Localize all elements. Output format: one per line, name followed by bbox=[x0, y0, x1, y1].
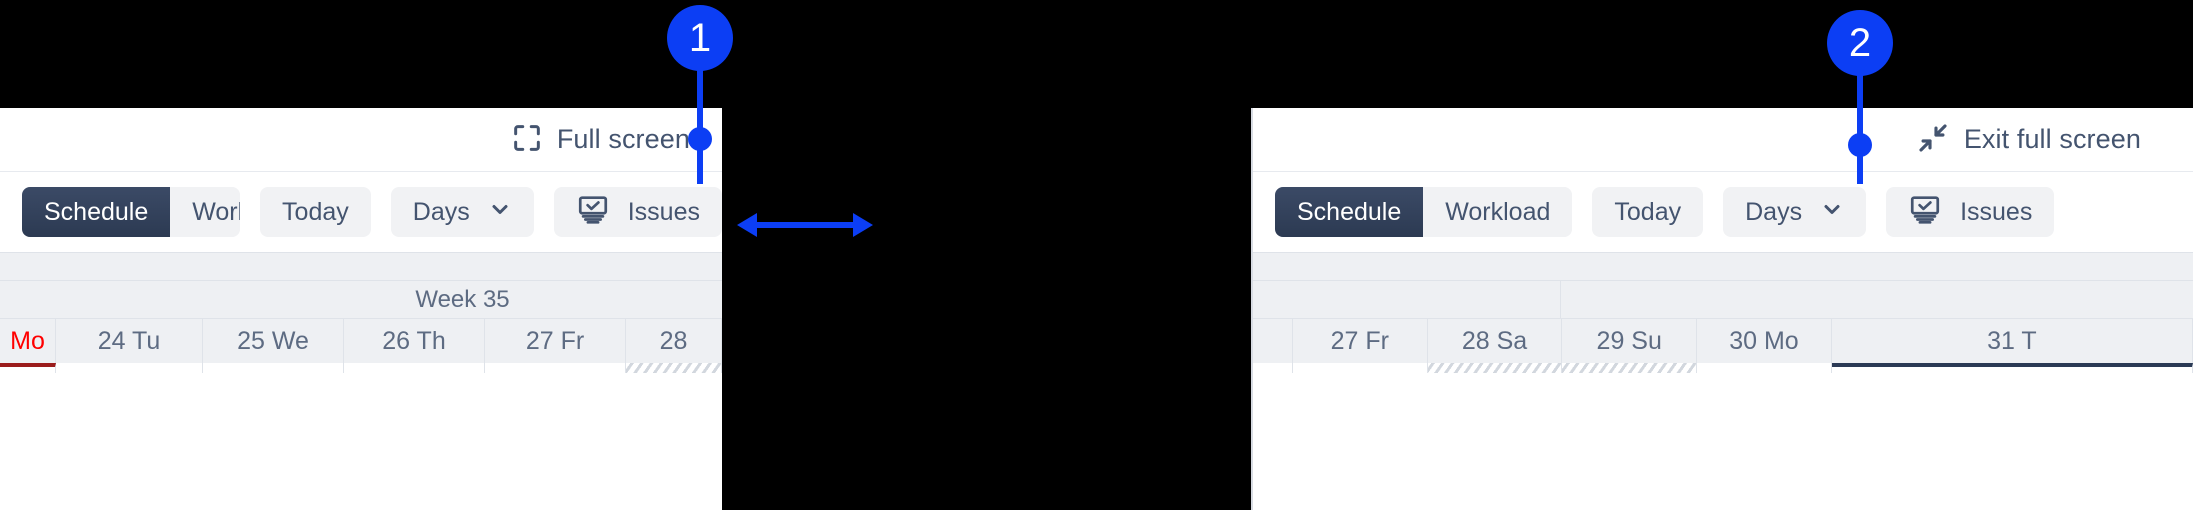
callout-1-stem bbox=[697, 68, 703, 184]
calendar-day-underline-row bbox=[0, 363, 722, 373]
exit-full-screen-button[interactable]: Exit full screen bbox=[1913, 116, 2143, 163]
calendar-day-underline bbox=[203, 363, 344, 373]
left-topbar: Full screen bbox=[0, 108, 722, 172]
issues-button[interactable]: Issues bbox=[554, 187, 722, 237]
calendar-day-underline bbox=[1562, 363, 1697, 373]
timescale-dropdown-right[interactable]: Days bbox=[1723, 187, 1866, 237]
calendar-day-cell: 25 We bbox=[203, 319, 344, 363]
calendar-day-underline bbox=[1697, 363, 1832, 373]
view-mode-segmented-control-right[interactable]: Schedule Workload bbox=[1275, 187, 1572, 237]
right-toolbar: Schedule Workload Today Days bbox=[1253, 172, 2193, 252]
timescale-label-right: Days bbox=[1745, 198, 1802, 227]
calendar-day-row: Mo24 Tu25 We26 Th27 Fr28 bbox=[0, 319, 722, 363]
chevron-down-icon-right bbox=[1820, 197, 1844, 228]
calendar-day-cell: 27 Fr bbox=[1293, 319, 1428, 363]
calendar-day-cell bbox=[1253, 319, 1293, 363]
calendar-day-cell: 26 Th bbox=[344, 319, 485, 363]
calendar-top-spacer bbox=[0, 253, 722, 281]
view-mode-segmented-control[interactable]: Schedule Workload bbox=[22, 187, 240, 237]
calendar-day-cell: 28 Sa bbox=[1428, 319, 1563, 363]
calendar-day-cell: 30 Mo bbox=[1697, 319, 1832, 363]
timescale-label: Days bbox=[413, 198, 470, 227]
callout-1-anchor-dot bbox=[688, 127, 712, 151]
calendar-day-underline bbox=[0, 363, 56, 373]
callout-2-badge: 2 bbox=[1827, 10, 1893, 76]
calendar-day-underline-row-right bbox=[1253, 363, 2193, 373]
exit-full-screen-label: Exit full screen bbox=[1964, 124, 2141, 155]
right-topbar: Exit full screen bbox=[1253, 108, 2193, 172]
calendar-day-cell: 24 Tu bbox=[56, 319, 203, 363]
today-button-right[interactable]: Today bbox=[1592, 187, 1703, 237]
expand-fullscreen-icon bbox=[510, 121, 544, 158]
collapse-exit-fullscreen-icon bbox=[1915, 120, 1951, 159]
calendar-week-empty bbox=[0, 281, 203, 318]
double-headed-arrow bbox=[735, 197, 875, 258]
issues-button-right[interactable]: Issues bbox=[1886, 187, 2054, 237]
calendar-week-label-right bbox=[1561, 281, 2193, 318]
panel-after-fullscreen: Exit full screen Schedule Workload Today… bbox=[1251, 108, 2193, 510]
tab-schedule-right[interactable]: Schedule bbox=[1275, 187, 1423, 237]
calendar-day-cell: 28 bbox=[626, 319, 722, 363]
tab-schedule[interactable]: Schedule bbox=[22, 187, 170, 237]
issues-label: Issues bbox=[628, 198, 700, 227]
calendar-week-row-right bbox=[1253, 281, 2193, 319]
calendar-day-cell: 27 Fr bbox=[485, 319, 626, 363]
calendar-week-row: Week 35 bbox=[0, 281, 722, 319]
callout-2-stem bbox=[1857, 74, 1863, 184]
tab-workload[interactable]: Workload bbox=[170, 187, 240, 237]
issues-monitor-check-icon bbox=[576, 192, 610, 233]
calendar-week-label: Week 35 bbox=[203, 281, 722, 318]
left-calendar-header: Week 35 Mo24 Tu25 We26 Th27 Fr28 bbox=[0, 252, 722, 373]
calendar-day-underline bbox=[626, 363, 722, 373]
calendar-week-empty-right bbox=[1253, 281, 1561, 318]
calendar-day-cell: Mo bbox=[0, 319, 56, 363]
timescale-dropdown[interactable]: Days bbox=[391, 187, 534, 237]
issues-label-right: Issues bbox=[1960, 198, 2032, 227]
calendar-day-cell: 31 T bbox=[1832, 319, 2193, 363]
calendar-day-underline bbox=[56, 363, 203, 373]
today-button[interactable]: Today bbox=[260, 187, 371, 237]
full-screen-button[interactable]: Full screen bbox=[508, 117, 692, 162]
calendar-day-row-right: 27 Fr28 Sa29 Su30 Mo31 T bbox=[1253, 319, 2193, 363]
left-toolbar: Schedule Workload Today Days bbox=[0, 172, 722, 252]
calendar-day-underline bbox=[344, 363, 485, 373]
issues-monitor-check-icon-right bbox=[1908, 192, 1942, 233]
calendar-day-underline bbox=[1253, 363, 1293, 373]
calendar-day-underline bbox=[1293, 363, 1428, 373]
calendar-day-underline bbox=[485, 363, 626, 373]
chevron-down-icon bbox=[488, 197, 512, 228]
calendar-day-underline bbox=[1832, 363, 2193, 373]
panel-before-fullscreen: Full screen Schedule Workload Today Days bbox=[0, 108, 722, 510]
tab-workload-right[interactable]: Workload bbox=[1423, 187, 1572, 237]
full-screen-label: Full screen bbox=[557, 124, 690, 155]
screenshot-stage: Full screen Schedule Workload Today Days bbox=[0, 0, 2193, 510]
callout-2-anchor-dot bbox=[1848, 133, 1872, 157]
calendar-day-underline bbox=[1428, 363, 1563, 373]
right-calendar-header: 27 Fr28 Sa29 Su30 Mo31 T bbox=[1253, 252, 2193, 373]
calendar-day-cell: 29 Su bbox=[1562, 319, 1697, 363]
calendar-top-spacer-right bbox=[1253, 253, 2193, 281]
callout-1-badge: 1 bbox=[667, 5, 733, 71]
